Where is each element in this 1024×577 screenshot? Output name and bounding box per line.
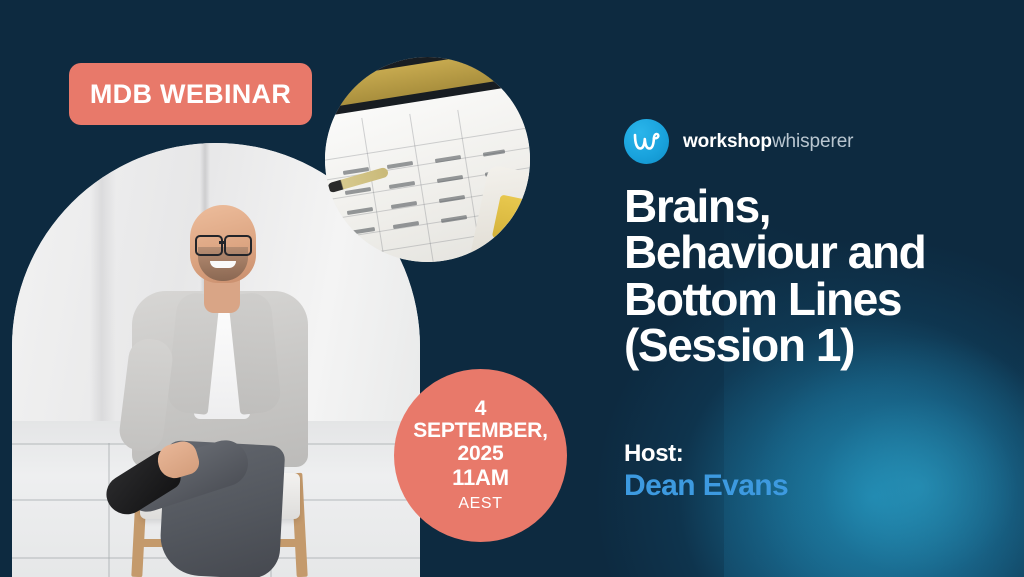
brand-lockup: workshopwhisperer [624, 119, 853, 164]
date-timezone: AEST [458, 495, 502, 513]
host-name: Dean Evans [624, 468, 788, 503]
title-line-1: Brains, [624, 183, 1016, 229]
presenter-smile [210, 261, 236, 268]
title-line-2: Behaviour and [624, 229, 1016, 275]
photo-wall-seam-2 [90, 143, 116, 429]
background-corner-glow-inner [754, 337, 1024, 577]
brand-wordmark-bold: workshop [683, 131, 772, 152]
glasses-bridge [219, 241, 226, 244]
workshop-whisperer-monogram-icon [624, 119, 669, 164]
glasses-icon [224, 235, 252, 256]
date-day: 4 [475, 398, 486, 421]
page-title: Brains, Behaviour and Bottom Lines (Sess… [624, 183, 1016, 369]
title-line-3: Bottom Lines [624, 276, 1016, 322]
glasses-icon [195, 235, 223, 256]
webinar-badge-label: MDB WEBINAR [90, 79, 291, 110]
date-month: SEPTEMBER, [413, 420, 548, 443]
host-block: Host: Dean Evans [624, 440, 788, 504]
date-badge: 4 SEPTEMBER, 2025 11AM AEST [394, 369, 567, 542]
floor-tile-line [108, 443, 110, 577]
brand-wordmark: workshopwhisperer [683, 131, 853, 153]
spreadsheet-inset-photo [325, 57, 530, 262]
host-label: Host: [624, 440, 788, 468]
title-line-4: (Session 1) [624, 322, 1016, 368]
webinar-promo-graphic: MDB WEBINAR 4 SEPTEMBER, 2025 11AM AEST … [0, 0, 1024, 577]
date-time: 11AM [452, 466, 509, 491]
date-year: 2025 [458, 443, 504, 466]
brand-wordmark-light: whisperer [772, 131, 853, 152]
webinar-badge: MDB WEBINAR [69, 63, 312, 125]
